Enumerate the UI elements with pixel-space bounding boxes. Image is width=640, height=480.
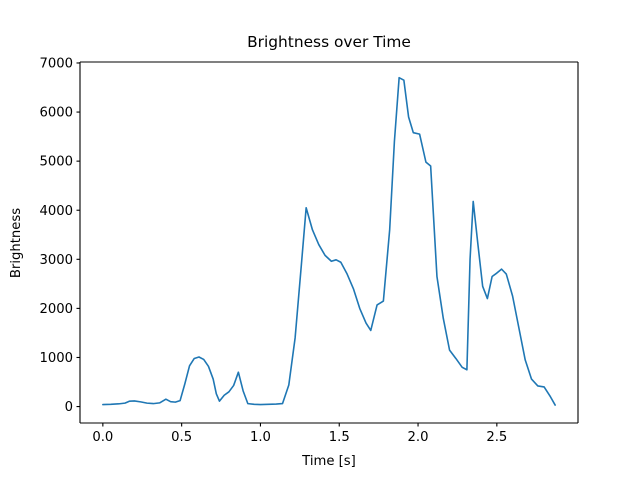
y-tick-label: 3000 xyxy=(39,253,73,268)
chart-canvas: 0.00.51.01.52.02.50100020003000400050006… xyxy=(0,0,640,480)
y-tick-label: 7000 xyxy=(39,57,73,72)
x-tick-label: 0.5 xyxy=(171,430,192,445)
x-tick-label: 2.5 xyxy=(486,430,507,445)
figure-background xyxy=(0,0,640,480)
y-tick-label: 1000 xyxy=(39,351,73,366)
y-axis-label: Brightness xyxy=(9,208,24,278)
x-tick-label: 2.0 xyxy=(408,430,429,445)
x-tick-label: 1.5 xyxy=(329,430,350,445)
chart-figure: 0.00.51.01.52.02.50100020003000400050006… xyxy=(0,0,640,480)
y-tick-label: 2000 xyxy=(39,302,73,317)
x-tick-label: 1.0 xyxy=(250,430,271,445)
x-tick-label: 0.0 xyxy=(92,430,113,445)
y-tick-label: 6000 xyxy=(39,106,73,121)
y-tick-label: 4000 xyxy=(39,204,73,219)
chart-title: Brightness over Time xyxy=(247,33,411,51)
y-tick-label: 0 xyxy=(65,400,73,415)
y-tick-label: 5000 xyxy=(39,155,73,170)
x-axis-label: Time [s] xyxy=(301,454,356,469)
